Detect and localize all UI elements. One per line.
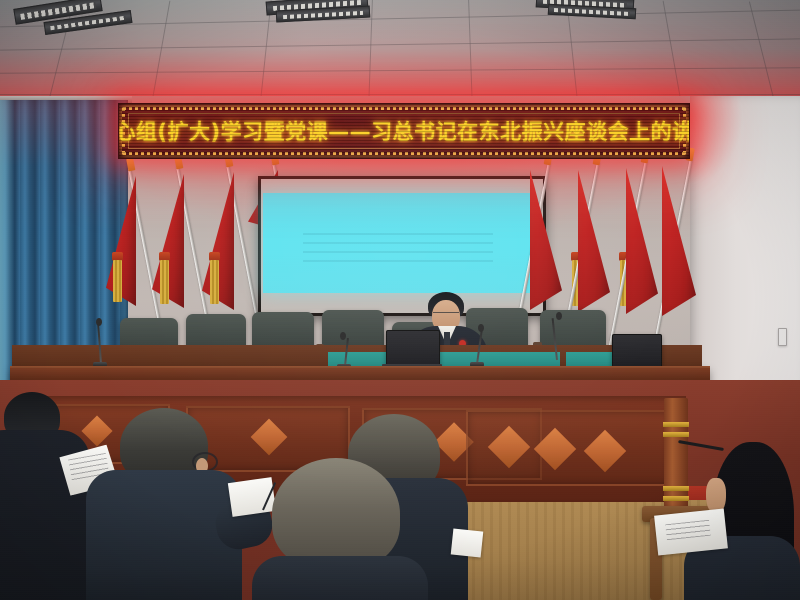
laptop-screen[interactable] bbox=[612, 334, 662, 368]
speaker-glasses bbox=[433, 312, 459, 317]
projection-screen bbox=[258, 176, 546, 316]
laptop-screen[interactable] bbox=[386, 330, 440, 368]
led-banner-text: 中心组(扩大)学习暨党课——习总书记在东北振兴座谈会上的讲话 bbox=[118, 116, 690, 146]
attendee-paper bbox=[451, 529, 484, 558]
column-gold-band bbox=[663, 432, 689, 437]
microphone-head bbox=[478, 324, 484, 332]
projected-slide bbox=[263, 193, 531, 293]
microphone-head bbox=[556, 312, 562, 320]
attendee-torso bbox=[252, 556, 428, 600]
podium-column bbox=[664, 398, 688, 522]
microphone-head bbox=[96, 318, 102, 326]
column-gold-band bbox=[663, 422, 689, 427]
led-banner: 中心组(扩大)学习暨党课——习总书记在东北振兴座谈会上的讲话 bbox=[118, 103, 690, 159]
flag-tassel bbox=[160, 260, 169, 304]
attendee-hair bbox=[272, 458, 400, 570]
conference-room-photo: 中心组(扩大)学习暨党课——习总书记在东北振兴座谈会上的讲话 bbox=[0, 0, 800, 600]
slide-faint-content bbox=[303, 233, 493, 263]
led-banner-inner-frame: 中心组(扩大)学习暨党课——习总书记在东北振兴座谈会上的讲话 bbox=[128, 113, 680, 149]
flag-tassel bbox=[210, 260, 219, 304]
column-gold-band bbox=[663, 496, 689, 501]
microphone-head bbox=[340, 332, 346, 340]
column-gold-band bbox=[663, 486, 689, 491]
right-wall-red-glow bbox=[690, 96, 760, 216]
wall-switch[interactable] bbox=[778, 328, 787, 346]
flag-tassel bbox=[113, 260, 122, 302]
